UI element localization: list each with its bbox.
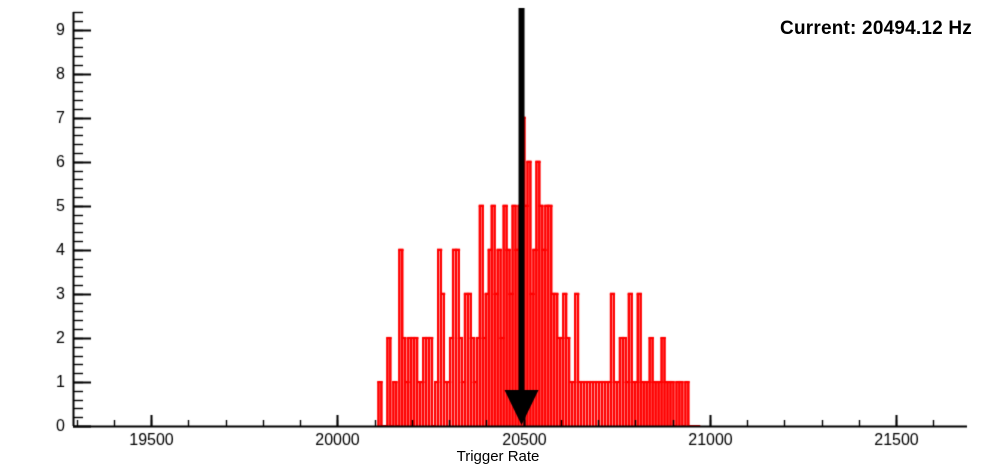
current-rate-readout: Current: 20494.12 Hz [780,18,972,40]
x-axis-title: Trigger Rate [0,448,996,465]
histogram-plot-canvas[interactable] [0,0,996,472]
trigger-rate-histogram-panel: Current: 20494.12 Hz Trigger Rate [0,0,996,472]
